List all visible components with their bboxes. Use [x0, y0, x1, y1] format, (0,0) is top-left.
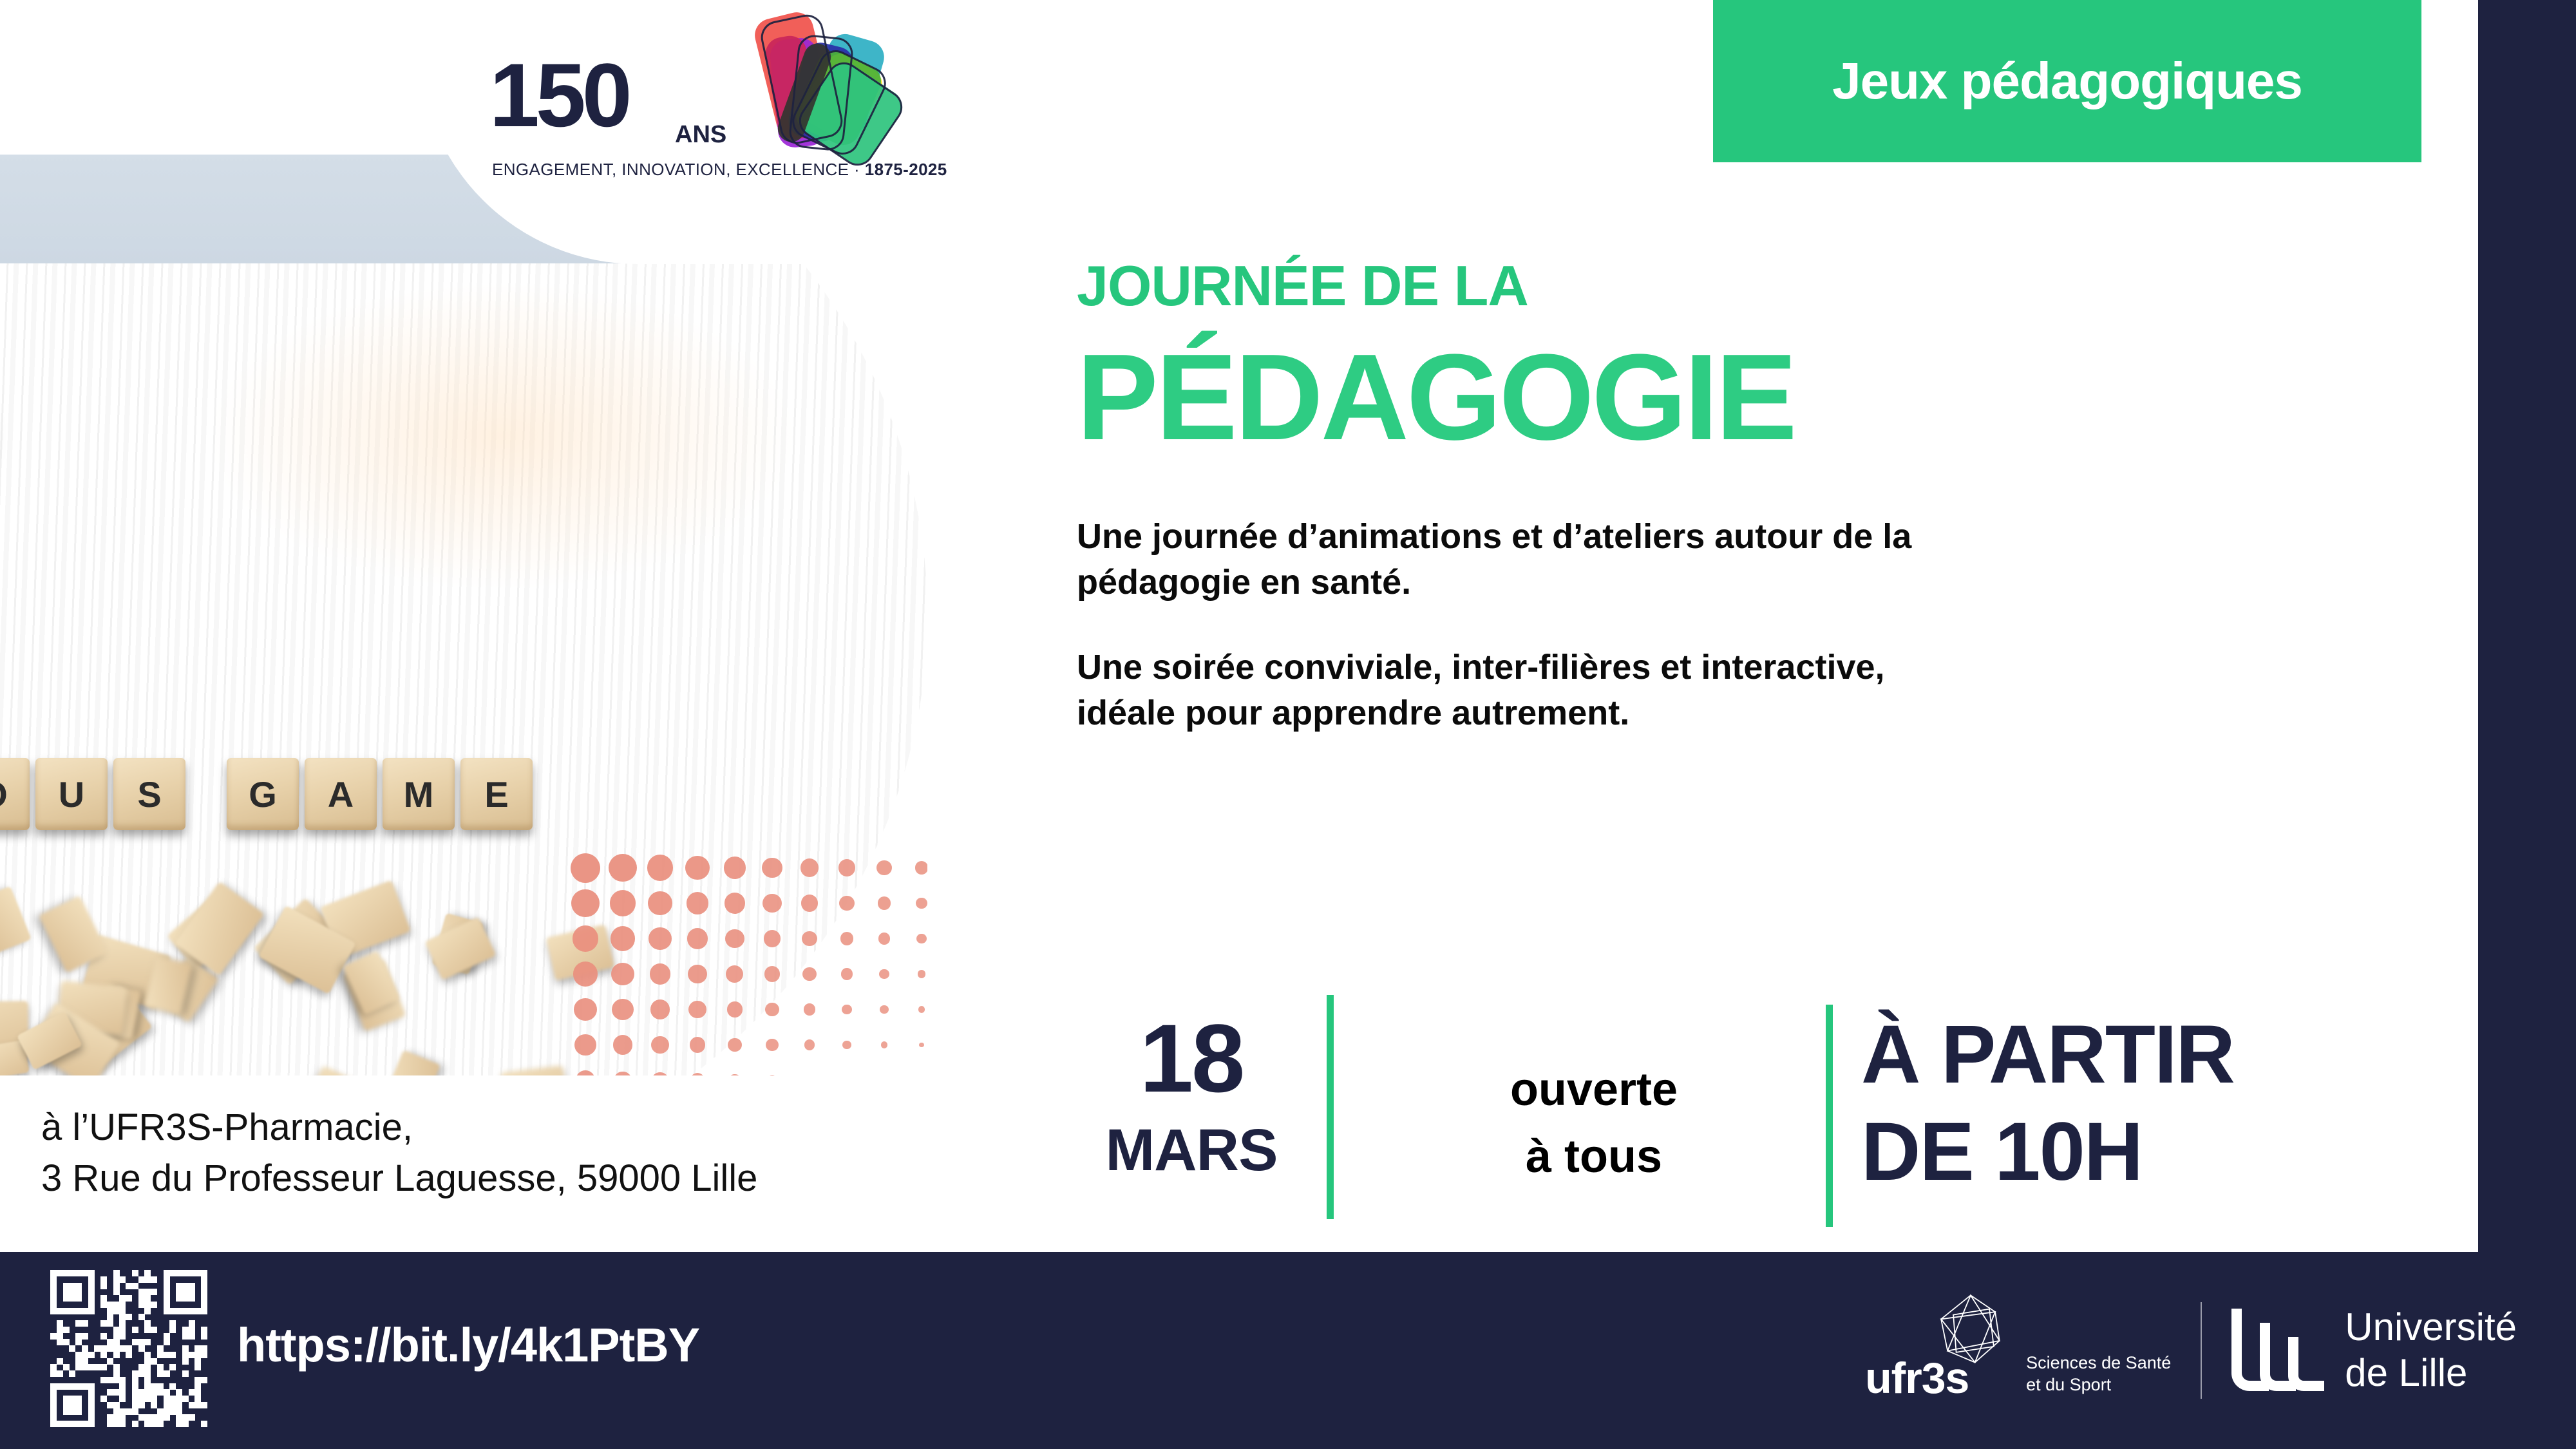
qr-module: [75, 1308, 82, 1314]
qr-module: [144, 1327, 151, 1333]
qr-module: [164, 1352, 170, 1358]
qr-module: [63, 1270, 70, 1276]
qr-module: [107, 1358, 113, 1365]
qr-module: [176, 1402, 182, 1408]
qr-module: [201, 1308, 207, 1314]
qr-module: [138, 1396, 145, 1402]
qr-module: [75, 1383, 82, 1390]
qr-module: [75, 1421, 82, 1427]
event-audience: ouverte à tous: [1372, 1056, 1816, 1191]
description-paragraph-1: Une journée d’animations et d’ateliers a…: [1077, 514, 2442, 606]
halftone-dot: [649, 927, 671, 950]
event-month: MARS: [1069, 1121, 1314, 1180]
halftone-dot: [650, 999, 670, 1019]
scrabble-tile: A: [305, 758, 377, 830]
page-title-line1: JOURNÉE DE LA: [1077, 258, 2442, 314]
qr-module: [157, 1364, 164, 1370]
qr-module: [119, 1302, 126, 1308]
qr-module: [57, 1358, 63, 1365]
halftone-dot: [838, 859, 855, 876]
qr-module: [189, 1308, 195, 1314]
event-day: 18: [1069, 1010, 1314, 1106]
halftone-dot: [800, 858, 819, 877]
divider-line-2: [1826, 1005, 1833, 1227]
qr-module: [194, 1308, 201, 1314]
qr-module: [88, 1270, 95, 1276]
qr-module: [50, 1295, 57, 1302]
qr-module: [50, 1421, 57, 1427]
qr-module: [132, 1327, 138, 1333]
halftone-dot: [726, 965, 743, 983]
qr-module: [132, 1383, 138, 1390]
qr-module: [176, 1283, 182, 1289]
qr-module: [63, 1327, 70, 1333]
qr-module: [144, 1383, 151, 1390]
qr-module: [169, 1396, 176, 1402]
qr-module: [138, 1414, 145, 1421]
qr-module: [138, 1276, 145, 1283]
qr-module: [201, 1270, 207, 1276]
qr-module: [144, 1339, 151, 1345]
qr-module: [189, 1295, 195, 1302]
scattered-tile: [383, 1050, 440, 1075]
qr-module: [88, 1276, 95, 1283]
qr-module: [176, 1389, 182, 1396]
qr-module: [50, 1383, 57, 1390]
halftone-dot: [916, 934, 926, 943]
halftone-dot: [573, 961, 598, 986]
scrabble-tile: M: [383, 758, 455, 830]
qr-module: [50, 1396, 57, 1402]
halftone-dot: [840, 932, 854, 945]
qr-module: [164, 1302, 170, 1308]
qr-module: [194, 1352, 201, 1358]
qr-module: [100, 1276, 107, 1283]
qr-module: [82, 1345, 88, 1352]
qr-module: [132, 1370, 138, 1377]
logo-separator: [2201, 1302, 2202, 1399]
qr-module: [75, 1358, 82, 1365]
halftone-dot: [727, 1001, 743, 1017]
qr-module: [63, 1364, 70, 1370]
qr-module: [82, 1352, 88, 1358]
qr-module: [201, 1421, 207, 1427]
qr-module: [151, 1276, 157, 1283]
qr-module: [189, 1333, 195, 1340]
qr-module: [82, 1333, 88, 1340]
qr-module: [182, 1308, 189, 1314]
time-line1: À PARTIR: [1861, 1006, 2473, 1103]
halftone-dot: [765, 1003, 779, 1017]
qr-module: [82, 1308, 88, 1314]
qr-module: [151, 1396, 157, 1402]
qr-module: [75, 1352, 82, 1358]
halftone-dot: [611, 926, 635, 951]
qr-module: [126, 1408, 132, 1415]
hero-photo: SERIOUSGAME: [0, 155, 927, 1075]
halftone-dot: [647, 855, 673, 880]
qr-module: [113, 1408, 120, 1415]
qr-module: [63, 1339, 70, 1345]
qr-module: [57, 1320, 63, 1327]
qr-module: [113, 1276, 120, 1283]
halftone-dot: [574, 1034, 596, 1056]
ufr3s-tagline-line2: et du Sport: [2026, 1374, 2171, 1396]
logo-tagline-years: 1875-2025: [865, 160, 947, 179]
halftone-dot: [571, 889, 599, 917]
qr-module: [169, 1402, 176, 1408]
qr-module: [164, 1333, 170, 1340]
qr-module: [119, 1396, 126, 1402]
halftone-dot: [880, 1005, 888, 1014]
halftone-dot: [916, 898, 927, 909]
qr-module: [57, 1383, 63, 1390]
logo-unit-label: ANS: [675, 122, 726, 147]
qr-module: [119, 1333, 126, 1340]
qr-module: [100, 1377, 107, 1383]
logo-tagline-text: ENGAGEMENT, INNOVATION, EXCELLENCE ·: [492, 160, 865, 179]
halftone-dot: [764, 966, 780, 981]
halftone-dot: [762, 858, 782, 878]
halftone-dot: [650, 963, 671, 985]
tile-gap: [191, 758, 221, 830]
qr-module: [88, 1289, 95, 1295]
audience-line1: ouverte: [1372, 1056, 1816, 1123]
qr-module: [138, 1339, 145, 1345]
qr-module: [107, 1389, 113, 1396]
qr-module: [113, 1327, 120, 1333]
halftone-dot: [801, 895, 818, 911]
qr-module: [113, 1389, 120, 1396]
qr-module: [75, 1295, 82, 1302]
qr-module: [194, 1389, 201, 1396]
qr-module: [176, 1396, 182, 1402]
qr-module: [144, 1320, 151, 1327]
qr-module: [113, 1339, 120, 1345]
scattered-tile: [308, 1066, 369, 1075]
qr-module: [69, 1345, 75, 1352]
qr-module: [157, 1421, 164, 1427]
qr-module: [119, 1377, 126, 1383]
poster-root: SERIOUSGAME 150 ANS ENGAGEMENT, INNOVATI…: [0, 0, 2576, 1449]
qr-module: [82, 1320, 88, 1327]
qr-module: [151, 1289, 157, 1295]
qr-module: [132, 1377, 138, 1383]
qr-module: [201, 1276, 207, 1283]
qr-module: [157, 1345, 164, 1352]
qr-module: [182, 1414, 189, 1421]
qr-module: [176, 1289, 182, 1295]
halftone-dot: [685, 856, 709, 880]
qr-module: [164, 1308, 170, 1314]
qr-module: [88, 1414, 95, 1421]
qr-module: [69, 1308, 75, 1314]
halftone-dot: [876, 860, 891, 875]
event-url[interactable]: https://bit.ly/4k1PtBY: [237, 1321, 699, 1369]
qr-module: [88, 1408, 95, 1415]
qr-module: [75, 1333, 82, 1340]
halftone-dot: [690, 1073, 705, 1075]
qr-module: [144, 1308, 151, 1314]
qr-module: [132, 1389, 138, 1396]
qr-module: [201, 1289, 207, 1295]
qr-module: [157, 1370, 164, 1377]
qr-module: [57, 1327, 63, 1333]
qr-module: [50, 1283, 57, 1289]
halftone-dot: [688, 965, 707, 984]
qr-module: [50, 1364, 57, 1370]
qr-module: [57, 1421, 63, 1427]
qr-module: [50, 1302, 57, 1308]
qr-module: [100, 1333, 107, 1340]
event-date: 18 MARS: [1069, 1010, 1314, 1180]
qr-module: [69, 1402, 75, 1408]
audience-line2: à tous: [1372, 1123, 1816, 1190]
qr-module: [69, 1370, 75, 1377]
halftone-dot: [728, 1074, 741, 1075]
qr-module: [144, 1396, 151, 1402]
qr-module: [113, 1283, 120, 1289]
qr-module: [88, 1364, 95, 1370]
qr-module: [164, 1276, 170, 1283]
qr-module: [169, 1270, 176, 1276]
qr-module: [113, 1308, 120, 1314]
scattered-tile: [0, 886, 32, 955]
qr-module: [88, 1302, 95, 1308]
qr-module: [144, 1289, 151, 1295]
scrabble-tile: O: [0, 758, 30, 830]
qr-module: [82, 1421, 88, 1427]
qr-module: [164, 1402, 170, 1408]
qr-module: [126, 1352, 132, 1358]
qr-module: [194, 1377, 201, 1383]
qr-module: [164, 1295, 170, 1302]
qr-module: [88, 1295, 95, 1302]
halftone-dot: [728, 1038, 742, 1052]
qr-module: [69, 1408, 75, 1415]
colorful-fan-icon: [734, 10, 921, 165]
qr-module: [113, 1370, 120, 1377]
qr-module: [144, 1370, 151, 1377]
qr-module: [164, 1414, 170, 1421]
qr-module: [63, 1289, 70, 1295]
paragraph1-line1: Une journée d’animations et d’ateliers a…: [1077, 514, 2442, 560]
halftone-dot: [614, 1072, 632, 1075]
qr-module: [75, 1320, 82, 1327]
qr-module: [113, 1377, 120, 1383]
qr-module: [113, 1333, 120, 1340]
qr-module: [182, 1370, 189, 1377]
halftone-dot: [724, 857, 746, 879]
qr-module: [107, 1377, 113, 1383]
qr-module: [151, 1358, 157, 1365]
qr-module: [144, 1377, 151, 1383]
qr-module: [189, 1320, 195, 1327]
qr-module: [194, 1396, 201, 1402]
content-column: JOURNÉE DE LA PÉDAGOGIE Une journée d’an…: [1077, 258, 2442, 736]
qr-module: [50, 1414, 57, 1421]
qr-module: [201, 1377, 207, 1383]
halftone-dot: [573, 925, 599, 952]
qr-module: [69, 1283, 75, 1289]
qr-module: [113, 1414, 120, 1421]
qr-module: [119, 1320, 126, 1327]
qr-module: [88, 1383, 95, 1390]
qr-module: [119, 1389, 126, 1396]
qr-module: [100, 1302, 107, 1308]
qr-module: [201, 1333, 207, 1340]
description-paragraph-2: Une soirée conviviale, inter-filières et…: [1077, 645, 2442, 737]
qr-module: [57, 1270, 63, 1276]
event-info-row: 18 MARS ouverte à tous À PARTIR DE 10H: [1069, 979, 2473, 1236]
qr-module: [107, 1302, 113, 1308]
qr-module: [75, 1364, 82, 1370]
qr-module: [63, 1421, 70, 1427]
qr-module: [144, 1358, 151, 1365]
qr-module: [182, 1396, 189, 1402]
anniversary-logo: 150 ANS ENGAGEMENT, INNOVATION, EXCELLEN…: [489, 50, 914, 211]
footer-bar: https://bit.ly/4k1PtBY ufr3s Sci: [0, 1252, 2576, 1449]
qr-module: [119, 1345, 126, 1352]
halftone-dot: [609, 854, 636, 882]
qr-module: [75, 1402, 82, 1408]
qr-module: [119, 1327, 126, 1333]
qr-module: [119, 1408, 126, 1415]
halftone-dot: [651, 1036, 669, 1054]
qr-module: [189, 1402, 195, 1408]
qr-module: [164, 1283, 170, 1289]
lille-l-icon: [2231, 1309, 2328, 1392]
universite-de-lille-logo: Université de Lille: [2231, 1305, 2517, 1396]
qr-module: [82, 1383, 88, 1390]
qr-module: [126, 1314, 132, 1320]
halftone-dot: [918, 1006, 925, 1012]
scrabble-tile: E: [460, 758, 533, 830]
qr-module: [151, 1383, 157, 1390]
event-time: À PARTIR DE 10H: [1861, 1006, 2473, 1200]
qr-module: [201, 1283, 207, 1289]
ufr3s-wordmark: ufr3s: [1865, 1356, 1969, 1400]
qr-module: [144, 1302, 151, 1308]
qr-module: [113, 1352, 120, 1358]
qr-module: [144, 1295, 151, 1302]
qr-module: [107, 1308, 113, 1314]
qr-module: [100, 1352, 107, 1358]
category-badge-label: Jeux pédagogiques: [1832, 55, 2302, 107]
qr-module: [164, 1339, 170, 1345]
halftone-dot: [878, 933, 890, 944]
qr-module: [169, 1352, 176, 1358]
qr-module: [75, 1270, 82, 1276]
qr-module: [164, 1289, 170, 1295]
qr-module: [100, 1364, 107, 1370]
qr-module: [144, 1389, 151, 1396]
qr-module: [75, 1289, 82, 1295]
qr-module: [138, 1364, 145, 1370]
divider-line-1: [1327, 995, 1334, 1219]
qr-module: [75, 1408, 82, 1415]
qr-module: [82, 1358, 88, 1365]
qr-module: [201, 1352, 207, 1358]
qr-module: [138, 1314, 145, 1320]
qr-module: [107, 1421, 113, 1427]
address-line1: à l’UFR3S-Pharmacie,: [41, 1103, 757, 1153]
qr-module: [157, 1408, 164, 1415]
qr-module: [189, 1389, 195, 1396]
qr-module: [113, 1345, 120, 1352]
qr-module: [176, 1270, 182, 1276]
scrabble-tile: U: [35, 758, 108, 830]
qr-module: [107, 1320, 113, 1327]
qr-module: [164, 1408, 170, 1415]
qr-module: [132, 1283, 138, 1289]
qr-module: [164, 1370, 170, 1377]
qr-module: [189, 1414, 195, 1421]
qr-module: [75, 1339, 82, 1345]
qr-module: [144, 1276, 151, 1283]
qr-module: [194, 1345, 201, 1352]
qr-module: [126, 1283, 132, 1289]
scrabble-tile: G: [227, 758, 299, 830]
qr-module: [164, 1270, 170, 1276]
halftone-dot: [724, 893, 745, 913]
halftone-dot: [611, 963, 634, 986]
halftone-dot: [842, 1041, 851, 1049]
qr-module: [169, 1364, 176, 1370]
qr-module: [132, 1396, 138, 1402]
event-address: à l’UFR3S-Pharmacie, 3 Rue du Professeur…: [41, 1103, 757, 1204]
qr-module: [182, 1289, 189, 1295]
qr-module: [176, 1408, 182, 1415]
qr-module: [126, 1345, 132, 1352]
qr-module: [69, 1421, 75, 1427]
qr-module: [63, 1396, 70, 1402]
qr-module: [176, 1308, 182, 1314]
qr-module: [57, 1333, 63, 1340]
halftone-dot: [841, 968, 853, 980]
qr-code[interactable]: [50, 1270, 207, 1427]
qr-module: [119, 1276, 126, 1283]
qr-module: [169, 1408, 176, 1415]
qr-module: [182, 1270, 189, 1276]
qr-module: [182, 1421, 189, 1427]
qr-module: [194, 1270, 201, 1276]
halftone-dot: [688, 1001, 706, 1018]
qr-module: [126, 1295, 132, 1302]
qr-module: [100, 1295, 107, 1302]
qr-module: [88, 1283, 95, 1289]
qr-module: [169, 1383, 176, 1390]
qr-module: [151, 1402, 157, 1408]
qr-module: [88, 1396, 95, 1402]
halftone-dot: [576, 1070, 596, 1075]
qr-module: [63, 1283, 70, 1289]
qr-module: [169, 1308, 176, 1314]
qr-module: [119, 1414, 126, 1421]
halftone-dot: [915, 861, 927, 874]
qr-module: [119, 1383, 126, 1390]
qr-module: [138, 1389, 145, 1396]
halftone-dot: [918, 970, 926, 978]
qr-module: [57, 1339, 63, 1345]
qr-module: [119, 1314, 126, 1320]
qr-module: [82, 1270, 88, 1276]
photo-light-glow: [206, 281, 799, 591]
qr-module: [75, 1396, 82, 1402]
qr-module: [107, 1402, 113, 1408]
qr-module: [182, 1295, 189, 1302]
halftone-dot: [804, 1039, 815, 1050]
